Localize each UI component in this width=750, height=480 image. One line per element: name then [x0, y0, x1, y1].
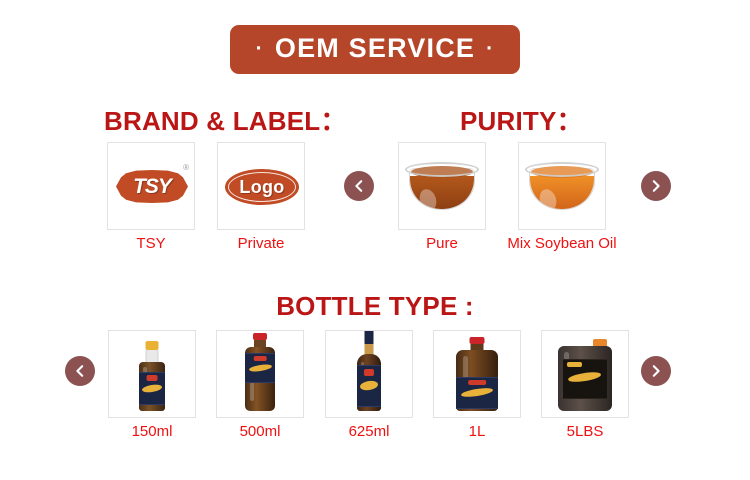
bottle-caption-1l: 1L [433, 424, 521, 439]
bottle-150ml-illustration [137, 341, 167, 411]
bottle-caption-625ml: 625ml [325, 424, 413, 439]
banner-right-dot-icon: · [486, 37, 494, 60]
bottle-thumb-150ml[interactable] [108, 330, 196, 418]
bottle-next-arrow-button[interactable] [641, 356, 671, 386]
mix-soybean-oil-bowl-illustration [525, 160, 599, 212]
bottle-500ml-illustration [243, 333, 277, 411]
purity-caption-pure: Pure [398, 236, 486, 251]
purity-heading: PURITY： [460, 108, 583, 134]
chevron-right-icon [649, 179, 663, 193]
banner-left-dot-icon: · [256, 37, 264, 60]
tsy-logo-text: TSY [116, 170, 188, 203]
purity-caption-mix-soybean-oil: Mix Soybean Oil [490, 236, 634, 251]
bottle-thumb-625ml[interactable] [325, 330, 413, 418]
bottle-caption-500ml: 500ml [216, 424, 304, 439]
bottle-type-heading: BOTTLE TYPE : [0, 293, 750, 319]
chevron-right-icon [649, 364, 663, 378]
private-logo-text: Logo [239, 177, 284, 198]
bottle-prev-arrow-button[interactable] [65, 356, 95, 386]
bottle-label [456, 377, 498, 409]
bottle-thumb-5lbs[interactable] [541, 330, 629, 418]
purity-thumb-pure[interactable] [398, 142, 486, 230]
chevron-left-icon [352, 179, 366, 193]
bottle-thumb-1l[interactable] [433, 330, 521, 418]
banner-title: OEM SERVICE [275, 33, 475, 63]
jug-5lbs-illustration [557, 339, 613, 411]
brand-caption-tsy: TSY [107, 236, 195, 251]
bottle-caption-5lbs: 5LBS [541, 424, 629, 439]
brand-label-heading: BRAND & LABEL： [104, 108, 347, 134]
private-logo-oval: Logo [225, 169, 299, 205]
oem-service-panel: ·OEM SERVICE· BRAND & LABEL： PURITY： BOT… [0, 0, 750, 480]
purity-thumb-mix-soybean-oil[interactable] [518, 142, 606, 230]
bottle-1l-illustration [455, 337, 499, 411]
jug-label [563, 359, 607, 399]
registered-trademark-icon: ® [183, 163, 189, 172]
bottle-label [357, 365, 381, 407]
bottle-caption-150ml: 150ml [108, 424, 196, 439]
bottle-625ml-illustration [356, 330, 382, 411]
brand-thumb-private[interactable]: Logo [217, 142, 305, 230]
banner-row: ·OEM SERVICE· [0, 25, 750, 74]
bottle-label [139, 372, 165, 405]
purity-prev-arrow-button[interactable] [344, 171, 374, 201]
purity-next-arrow-button[interactable] [641, 171, 671, 201]
brand-thumb-tsy[interactable]: TSY ® [107, 142, 195, 230]
bottle-label [245, 353, 275, 383]
bottle-thumb-500ml[interactable] [216, 330, 304, 418]
oem-service-banner: ·OEM SERVICE· [230, 25, 521, 74]
chevron-left-icon [73, 364, 87, 378]
brand-caption-private: Private [217, 236, 305, 251]
pure-oil-bowl-illustration [405, 160, 479, 212]
